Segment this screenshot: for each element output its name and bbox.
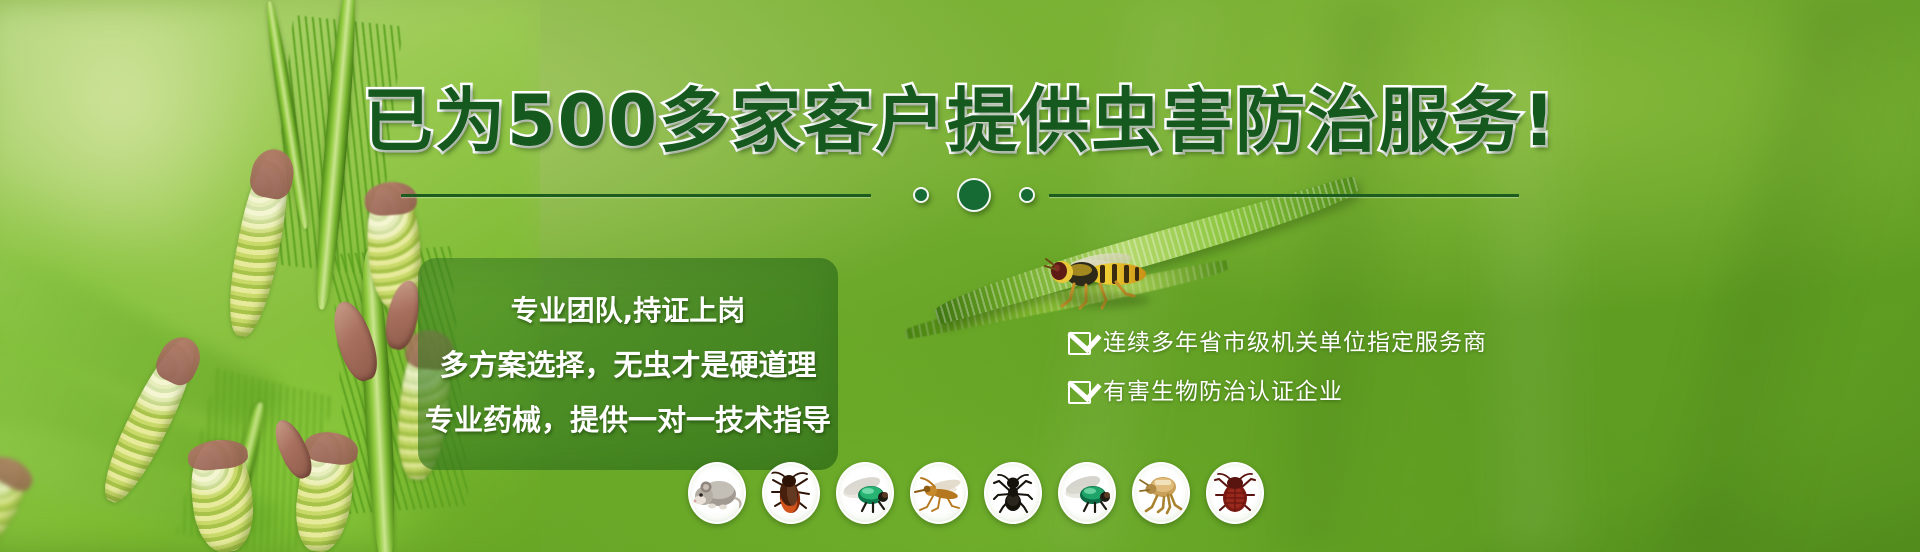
slogan-panel: 专业团队,持证上岗 多方案选择，无虫才是硬道理 专业药械，提供一对一技术指导 — [418, 258, 838, 470]
pest-icon-row — [688, 462, 1264, 524]
green-fly-icon — [836, 462, 894, 524]
cockroach-icon — [762, 462, 820, 524]
credential-label: 有害生物防治认证企业 — [1103, 381, 1343, 404]
mouse-icon — [688, 462, 746, 524]
page-title: 已为500多家客户提供虫害防治服务! — [0, 86, 1920, 156]
list-item: 有害生物防治认证企业 — [1068, 381, 1487, 404]
list-item: 连续多年省市级机关单位指定服务商 — [1068, 332, 1487, 355]
credentials-list: 连续多年省市级机关单位指定服务商 有害生物防治认证企业 — [1068, 332, 1487, 404]
credential-label: 连续多年省市级机关单位指定服务商 — [1103, 332, 1487, 355]
bedbug-icon — [1206, 462, 1264, 524]
flea-icon — [1132, 462, 1190, 524]
hoverfly-on-leaf-photo — [1040, 248, 1170, 318]
checkbox-checked-icon — [1068, 381, 1091, 404]
hoverfly-shadow — [1058, 292, 1150, 308]
slogan-line-1: 专业团队,持证上岗 — [418, 297, 838, 325]
fly-icon — [1058, 462, 1116, 524]
mosquito-icon — [910, 462, 968, 524]
ant-icon — [984, 462, 1042, 524]
slogan-line-3: 专业药械，提供一对一技术指导 — [418, 406, 838, 435]
promo-banner: 已为500多家客户提供虫害防治服务! 专业团队,持证上岗 多方案选择，无虫才是硬… — [0, 0, 1920, 552]
checkbox-checked-icon — [1068, 332, 1091, 355]
slogan-line-2: 多方案选择，无虫才是硬道理 — [418, 351, 838, 380]
